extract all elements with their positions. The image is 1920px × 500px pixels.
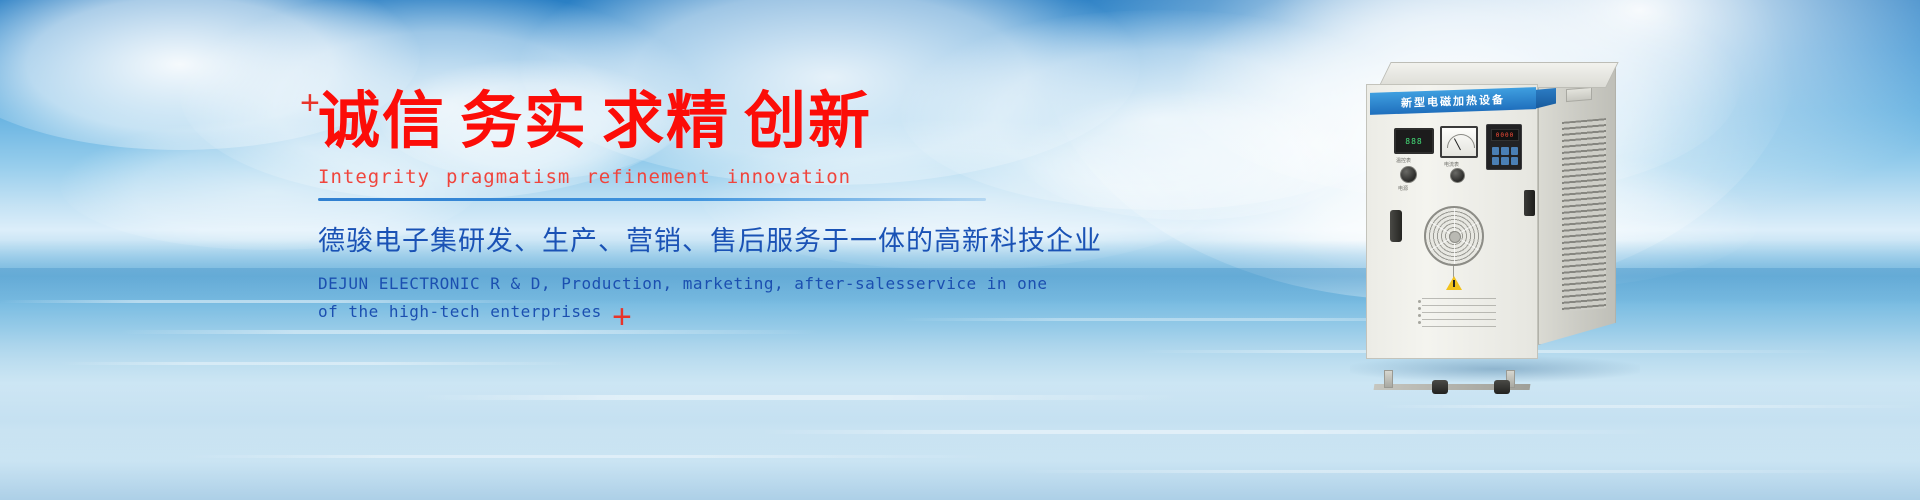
- cloud-shape: [1020, 90, 1360, 220]
- warning-triangle-icon: [1446, 276, 1462, 290]
- gauge-arc: [1447, 134, 1475, 148]
- knob-left-label: 电源: [1398, 185, 1408, 192]
- keypad-key: [1511, 147, 1518, 155]
- power-knob: [1400, 166, 1417, 183]
- keypad-display: 0000: [1491, 129, 1519, 141]
- description-english: DEJUN ELECTRONIC R & D, Production, mark…: [318, 270, 1018, 326]
- fan-spoke: [1454, 208, 1455, 264]
- digital-temperature-meter: 888: [1394, 128, 1434, 154]
- headline-word-4: 创新: [744, 87, 872, 156]
- fan-grille: [1424, 206, 1484, 266]
- adjust-knob: [1450, 168, 1465, 183]
- tagline-word-1: Integrity: [318, 166, 430, 188]
- side-latch-handle: [1524, 190, 1535, 216]
- spec-bullet: [1418, 321, 1421, 324]
- headline-word-3: 求精: [602, 87, 730, 156]
- plus-decoration-icon: +: [300, 86, 320, 120]
- keypad-key: [1501, 147, 1508, 155]
- spec-bullet: [1418, 300, 1421, 303]
- spec-label-lines: [1422, 298, 1496, 328]
- meter-left-label: 温控表: [1396, 157, 1411, 164]
- product-image-heating-machine: 新型电磁加热设备 温控表 电流表 电源 888 0000: [1366, 62, 1616, 372]
- headline-word-1: 诚信: [318, 87, 446, 156]
- keypad-display-value: 0000: [1492, 130, 1518, 142]
- keypad-key: [1501, 157, 1508, 165]
- divider-line: [318, 198, 986, 201]
- tagline-word-4: innovation: [727, 166, 851, 188]
- keypad-key: [1492, 157, 1499, 165]
- headline-chinese: 诚信务实求精创新: [318, 88, 1018, 156]
- keypad-buttons: [1492, 147, 1518, 165]
- subtitle-chinese: 德骏电子集研发、生产、营销、售后服务于一体的高新科技企业: [318, 219, 1018, 258]
- tagline-word-2: pragmatism: [446, 166, 570, 188]
- tagline-word-3: refinement: [586, 166, 710, 188]
- description-line-2: of the high-tech enterprises: [318, 298, 1018, 326]
- meter-right-label: 电流表: [1444, 161, 1459, 168]
- door-handle: [1390, 210, 1402, 242]
- spec-bullet: [1418, 314, 1421, 317]
- keypad-key: [1511, 157, 1518, 165]
- hero-banner: + + 诚信务实求精创新 Integritypragmatismrefineme…: [0, 0, 1920, 500]
- spec-bullet: [1418, 307, 1421, 310]
- digital-meter-value: 888: [1405, 137, 1422, 146]
- tagline-english: Integritypragmatismrefinementinnovation: [318, 166, 1018, 188]
- banner-text-block: 诚信务实求精创新 Integritypragmatismrefinementin…: [318, 88, 1018, 326]
- headline-word-2: 务实: [460, 87, 588, 156]
- machine-brand-label: 新型电磁加热设备: [1401, 91, 1505, 111]
- machine-caster: [1432, 380, 1448, 394]
- control-keypad: 0000: [1486, 124, 1522, 170]
- machine-leg: [1384, 370, 1393, 388]
- machine-side-badge: [1566, 87, 1592, 102]
- analog-current-gauge: [1440, 126, 1478, 158]
- machine-caster: [1494, 380, 1510, 394]
- description-line-1: DEJUN ELECTRONIC R & D, Production, mark…: [318, 270, 1018, 298]
- machine-vent-louvers: [1562, 118, 1606, 312]
- keypad-key: [1492, 147, 1499, 155]
